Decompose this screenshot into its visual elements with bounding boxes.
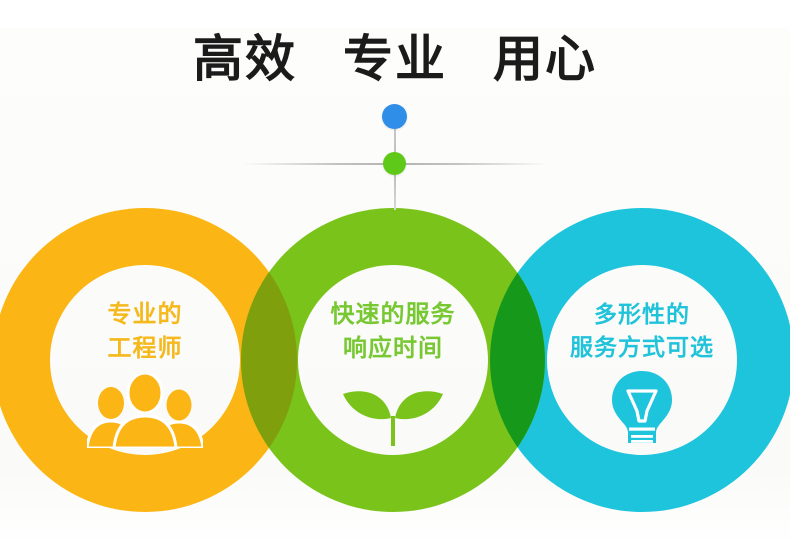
blue-dot-icon: [382, 104, 407, 129]
headline-segment-2: 专业: [343, 32, 447, 87]
poster-canvas: 高效专业用心: [0, 0, 790, 557]
green-dot-icon: [383, 152, 406, 175]
headline-segment-1: 高效: [193, 32, 297, 87]
headline-segment-3: 用心: [493, 32, 597, 87]
page-title: 高效专业用心: [0, 32, 790, 87]
